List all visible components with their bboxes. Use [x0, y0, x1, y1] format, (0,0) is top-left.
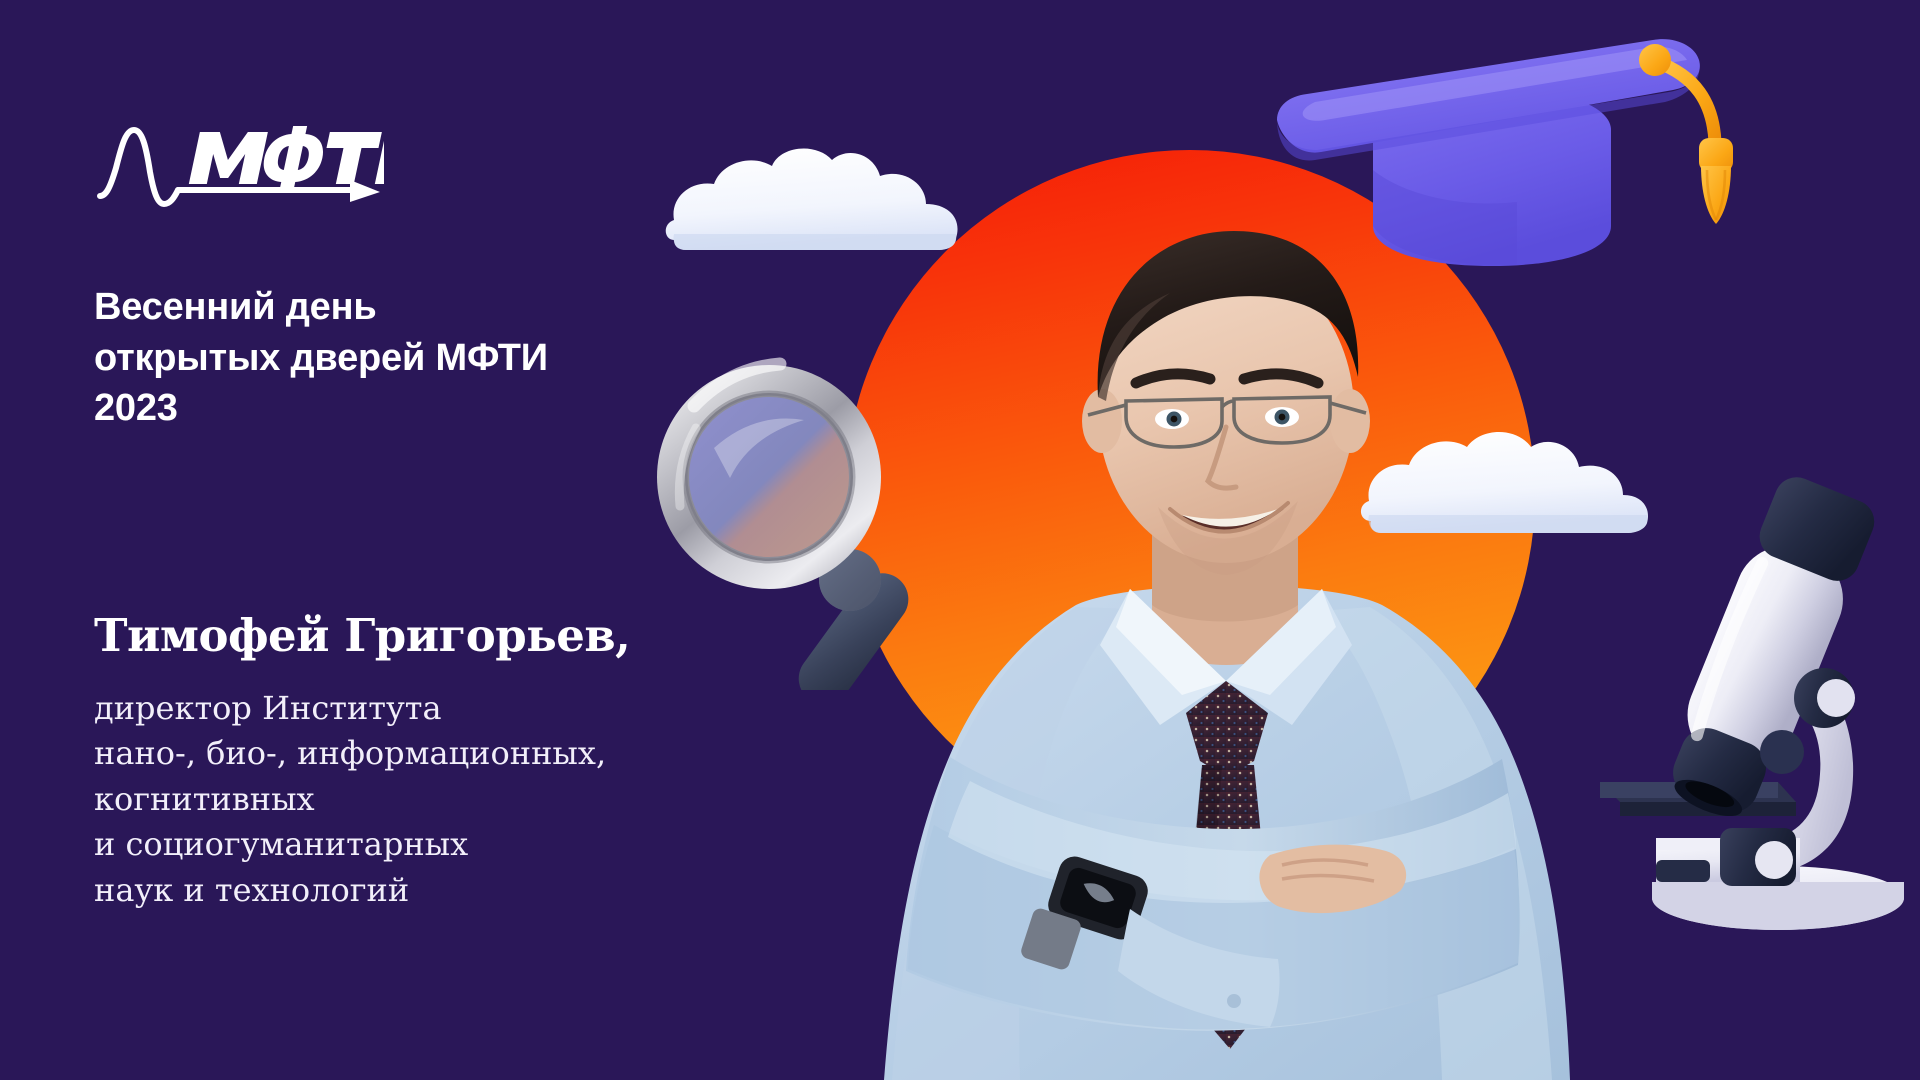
event-title: Весенний день открытых дверей МФТИ 2023: [94, 282, 734, 434]
speaker-portrait: [830, 165, 1620, 1080]
text-column: Весенний день открытых дверей МФТИ 2023 …: [94, 0, 814, 1080]
speaker-role-line-1: директор Института: [94, 686, 794, 731]
event-title-line-2: открытых дверей МФТИ: [94, 333, 734, 384]
speaker-role-line-4: и социогуманитарных: [94, 822, 794, 867]
speaker-name: Тимофей Григорьев,: [94, 610, 774, 662]
speaker-role-line-5: наук и технологий: [94, 868, 794, 913]
event-title-line-1: Весенний день: [94, 282, 734, 333]
mfti-logo[interactable]: [94, 122, 384, 218]
banner-canvas: Весенний день открытых дверей МФТИ 2023 …: [0, 0, 1920, 1080]
speaker-role-line-2: нано-, био-, информационных,: [94, 731, 794, 776]
speaker-role: директор Института нано-, био-, информац…: [94, 686, 794, 913]
event-title-line-3: 2023: [94, 383, 734, 434]
speaker-role-line-3: когнитивных: [94, 777, 794, 822]
microscope-icon: [1600, 430, 1920, 930]
